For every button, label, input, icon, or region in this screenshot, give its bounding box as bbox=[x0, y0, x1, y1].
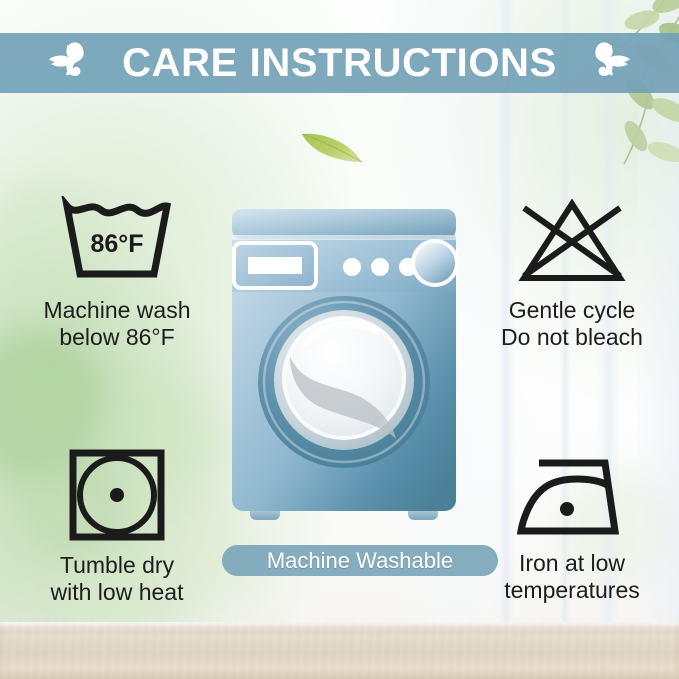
care-symbol-no-bleach: Gentle cycle Do not bleach bbox=[466, 196, 678, 350]
machine-top-lid bbox=[232, 209, 456, 239]
indicator-light bbox=[371, 258, 389, 276]
header-banner: CARE INSTRUCTIONS bbox=[0, 33, 679, 93]
care-symbol-caption: Gentle cycle Do not bleach bbox=[501, 297, 643, 350]
iron-icon bbox=[509, 447, 635, 541]
washing-machine-illustration bbox=[228, 207, 460, 532]
program-dial bbox=[411, 239, 459, 287]
wash-tub-icon: 86°F bbox=[53, 196, 181, 288]
fleur-de-lis-icon bbox=[571, 37, 637, 89]
indicator-lights bbox=[343, 258, 417, 276]
wash-temperature-value: 86°F bbox=[90, 230, 143, 258]
care-symbol-caption: Iron at low temperatures bbox=[504, 550, 640, 603]
tumble-dry-icon bbox=[67, 447, 167, 543]
badge-label: Machine Washable bbox=[267, 550, 453, 572]
care-symbol-tumble-dry: Tumble dry with low heat bbox=[11, 447, 223, 605]
care-symbol-iron: Iron at low temperatures bbox=[466, 447, 678, 603]
detergent-drawer bbox=[234, 243, 316, 288]
page-title: CARE INSTRUCTIONS bbox=[122, 43, 557, 83]
indicator-light bbox=[343, 258, 361, 276]
care-symbol-machine-wash: 86°F Machine wash below 86°F bbox=[11, 196, 223, 350]
care-symbol-caption: Tumble dry with low heat bbox=[51, 552, 184, 605]
drawer-handle bbox=[248, 257, 302, 274]
fleur-de-lis-icon bbox=[42, 37, 108, 89]
triangle-crossed-icon bbox=[508, 196, 636, 288]
care-instructions-graphic: CARE INSTRUCTIONS 86°F bbox=[0, 0, 679, 679]
leaf-icon bbox=[296, 122, 368, 168]
drum-door bbox=[258, 296, 430, 468]
care-symbol-caption: Machine wash below 86°F bbox=[43, 297, 190, 350]
machine-washable-badge: Machine Washable bbox=[222, 545, 498, 576]
wood-grain-texture bbox=[0, 622, 679, 679]
